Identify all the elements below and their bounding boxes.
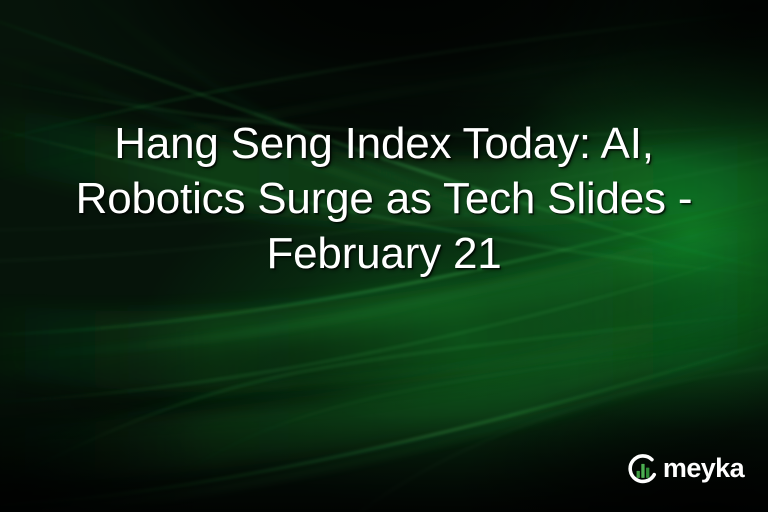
brand-logo: meyka [626, 452, 744, 486]
slide-canvas: Hang Seng Index Today: AI, Robotics Surg… [0, 0, 768, 512]
brand-wordmark: meyka [663, 455, 744, 482]
page-title: Hang Seng Index Today: AI, Robotics Surg… [34, 116, 734, 281]
bar-chart-in-circle-icon [626, 452, 660, 486]
title-block: Hang Seng Index Today: AI, Robotics Surg… [0, 116, 768, 281]
